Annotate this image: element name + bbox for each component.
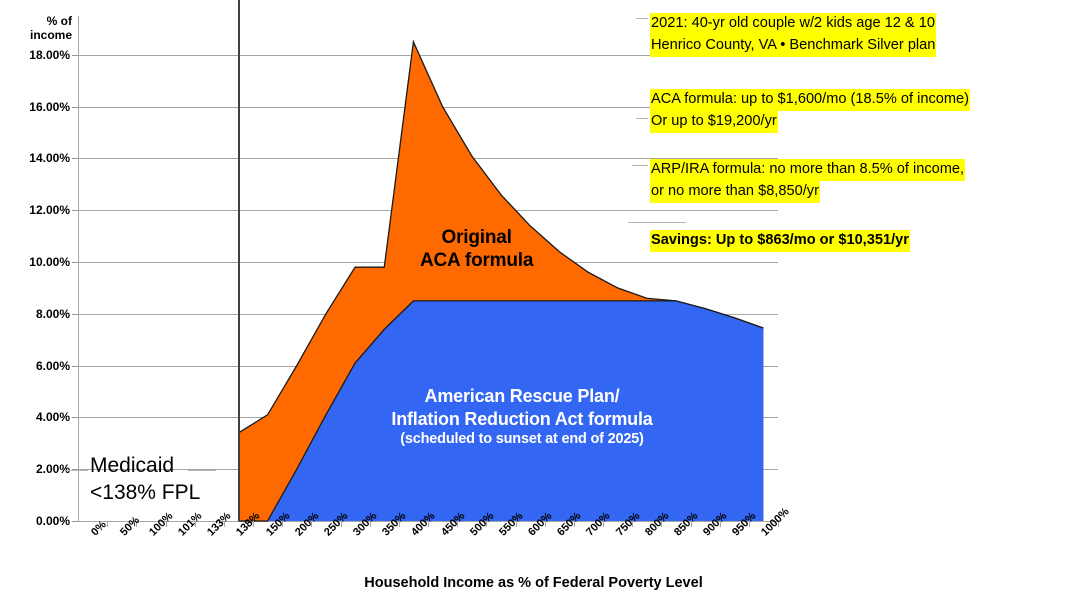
- y-axis-tick-label: 16.00%: [4, 100, 70, 114]
- callout-leader-line: [632, 165, 648, 166]
- callout-line: ARP/IRA formula: no more than 8.5% of in…: [650, 159, 965, 181]
- callout-line: 2021: 40-yr old couple w/2 kids age 12 &…: [650, 13, 936, 35]
- callout-line: or no more than $8,850/yr: [650, 181, 820, 203]
- callout-leader-line: [636, 118, 648, 119]
- y-axis-tick-label: 2.00%: [4, 462, 70, 476]
- chart-canvas: % of income 0.00%2.00%4.00%6.00%8.00%10.…: [0, 0, 1067, 600]
- medicaid-threshold-line: [238, 0, 240, 521]
- y-axis-tick-label: 0.00%: [4, 514, 70, 528]
- callout-line: Henrico County, VA • Benchmark Silver pl…: [650, 35, 936, 57]
- y-axis-tick-label: 6.00%: [4, 359, 70, 373]
- y-axis-title: % of income: [14, 14, 72, 42]
- callout-line: Savings: Up to $863/mo or $10,351/yr: [650, 230, 910, 252]
- medicaid-leader-line: [188, 470, 216, 471]
- callout-leader-line: [628, 222, 686, 223]
- y-axis-tick-label: 12.00%: [4, 203, 70, 217]
- callout-line: Or up to $19,200/yr: [650, 111, 778, 133]
- series-label-aca: Original ACA formula: [420, 226, 533, 272]
- callout-scenario: 2021: 40-yr old couple w/2 kids age 12 &…: [650, 13, 936, 57]
- callout-leader-line: [636, 18, 648, 19]
- y-axis-tick-label: 8.00%: [4, 307, 70, 321]
- callout-arp-ira-formula: ARP/IRA formula: no more than 8.5% of in…: [650, 159, 965, 203]
- series-label-arp: American Rescue Plan/ Inflation Reductio…: [312, 385, 732, 448]
- callout-aca-formula: ACA formula: up to $1,600/mo (18.5% of i…: [650, 89, 970, 133]
- callout-savings: Savings: Up to $863/mo or $10,351/yr: [650, 230, 910, 252]
- callout-line: ACA formula: up to $1,600/mo (18.5% of i…: [650, 89, 970, 111]
- y-axis-tick-label: 4.00%: [4, 410, 70, 424]
- y-axis-tick-label: 10.00%: [4, 255, 70, 269]
- y-axis-tick-label: 18.00%: [4, 48, 70, 62]
- medicaid-leader-line-left: [66, 470, 88, 471]
- medicaid-label: Medicaid <138% FPL: [90, 452, 200, 507]
- y-axis-tick-label: 14.00%: [4, 151, 70, 165]
- x-axis-title: Household Income as % of Federal Poverty…: [0, 575, 1067, 591]
